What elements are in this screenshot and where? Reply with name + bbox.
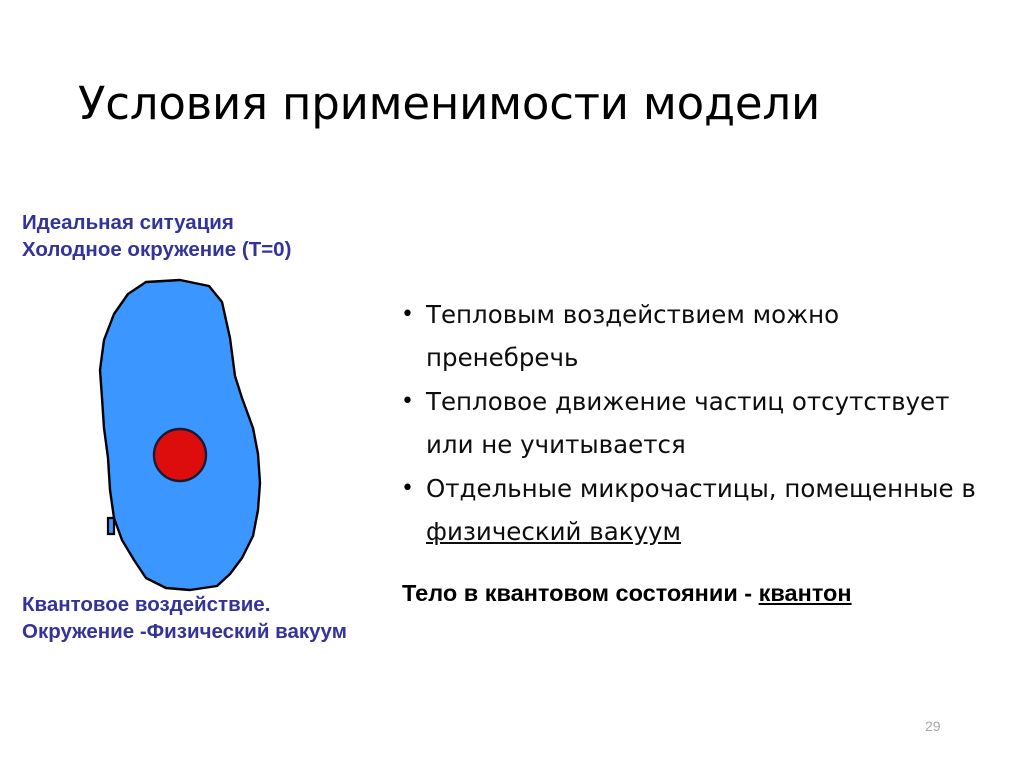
text-segment-underlined: квантон — [759, 580, 852, 606]
bullet-list: • Тепловым воздействием можно пренебречь… — [396, 293, 996, 554]
bullet-icon: • — [396, 293, 426, 336]
page-title: Условия применимости модели — [78, 80, 958, 127]
presentation-slide: Условия применимости модели Идеальная си… — [0, 0, 1024, 767]
conclusion-statement: Тело в квантовом состоянии - квантон — [402, 580, 852, 607]
list-item-text: Тепловое движение частиц отсутствует или… — [426, 380, 996, 466]
quanton-blob-diagram — [70, 278, 280, 598]
text-segment: Тело в квантовом состоянии - — [402, 580, 759, 606]
annotation-line: Квантовое воздействие. — [22, 591, 347, 618]
annotation-quantum-influence: Квантовое воздействие. Окружение -Физиче… — [22, 591, 347, 645]
list-item-text: Отдельные микрочастицы, помещенные в физ… — [426, 467, 996, 553]
list-item: • Тепловое движение частиц отсутствует и… — [396, 380, 996, 466]
text-segment: Тепловое движение частиц отсутствует или… — [426, 387, 949, 459]
list-item: • Отдельные микрочастицы, помещенные в ф… — [396, 467, 996, 553]
list-item-text: Тепловым воздействием можно пренебречь — [426, 293, 996, 379]
annotation-ideal-situation: Идеальная ситуация Холодное окружение (T… — [22, 209, 291, 263]
text-segment: Отдельные микрочастицы, помещенные в — [426, 474, 976, 503]
page-number: 29 — [925, 718, 941, 734]
list-item: • Тепловым воздействием можно пренебречь — [396, 293, 996, 379]
annotation-line: Идеальная ситуация — [22, 209, 291, 236]
annotation-line: Холодное окружение (T=0) — [22, 236, 291, 263]
text-segment: Тепловым воздействием можно пренебречь — [426, 300, 839, 372]
quantum-body-notch — [108, 518, 114, 534]
annotation-line: Окружение -Физический вакуум — [22, 618, 347, 645]
text-segment-underlined: физический вакуум — [426, 517, 681, 546]
microparticle-dot — [154, 429, 206, 481]
bullet-icon: • — [396, 380, 426, 423]
quanton-blob-svg — [70, 278, 280, 598]
bullet-icon: • — [396, 467, 426, 510]
